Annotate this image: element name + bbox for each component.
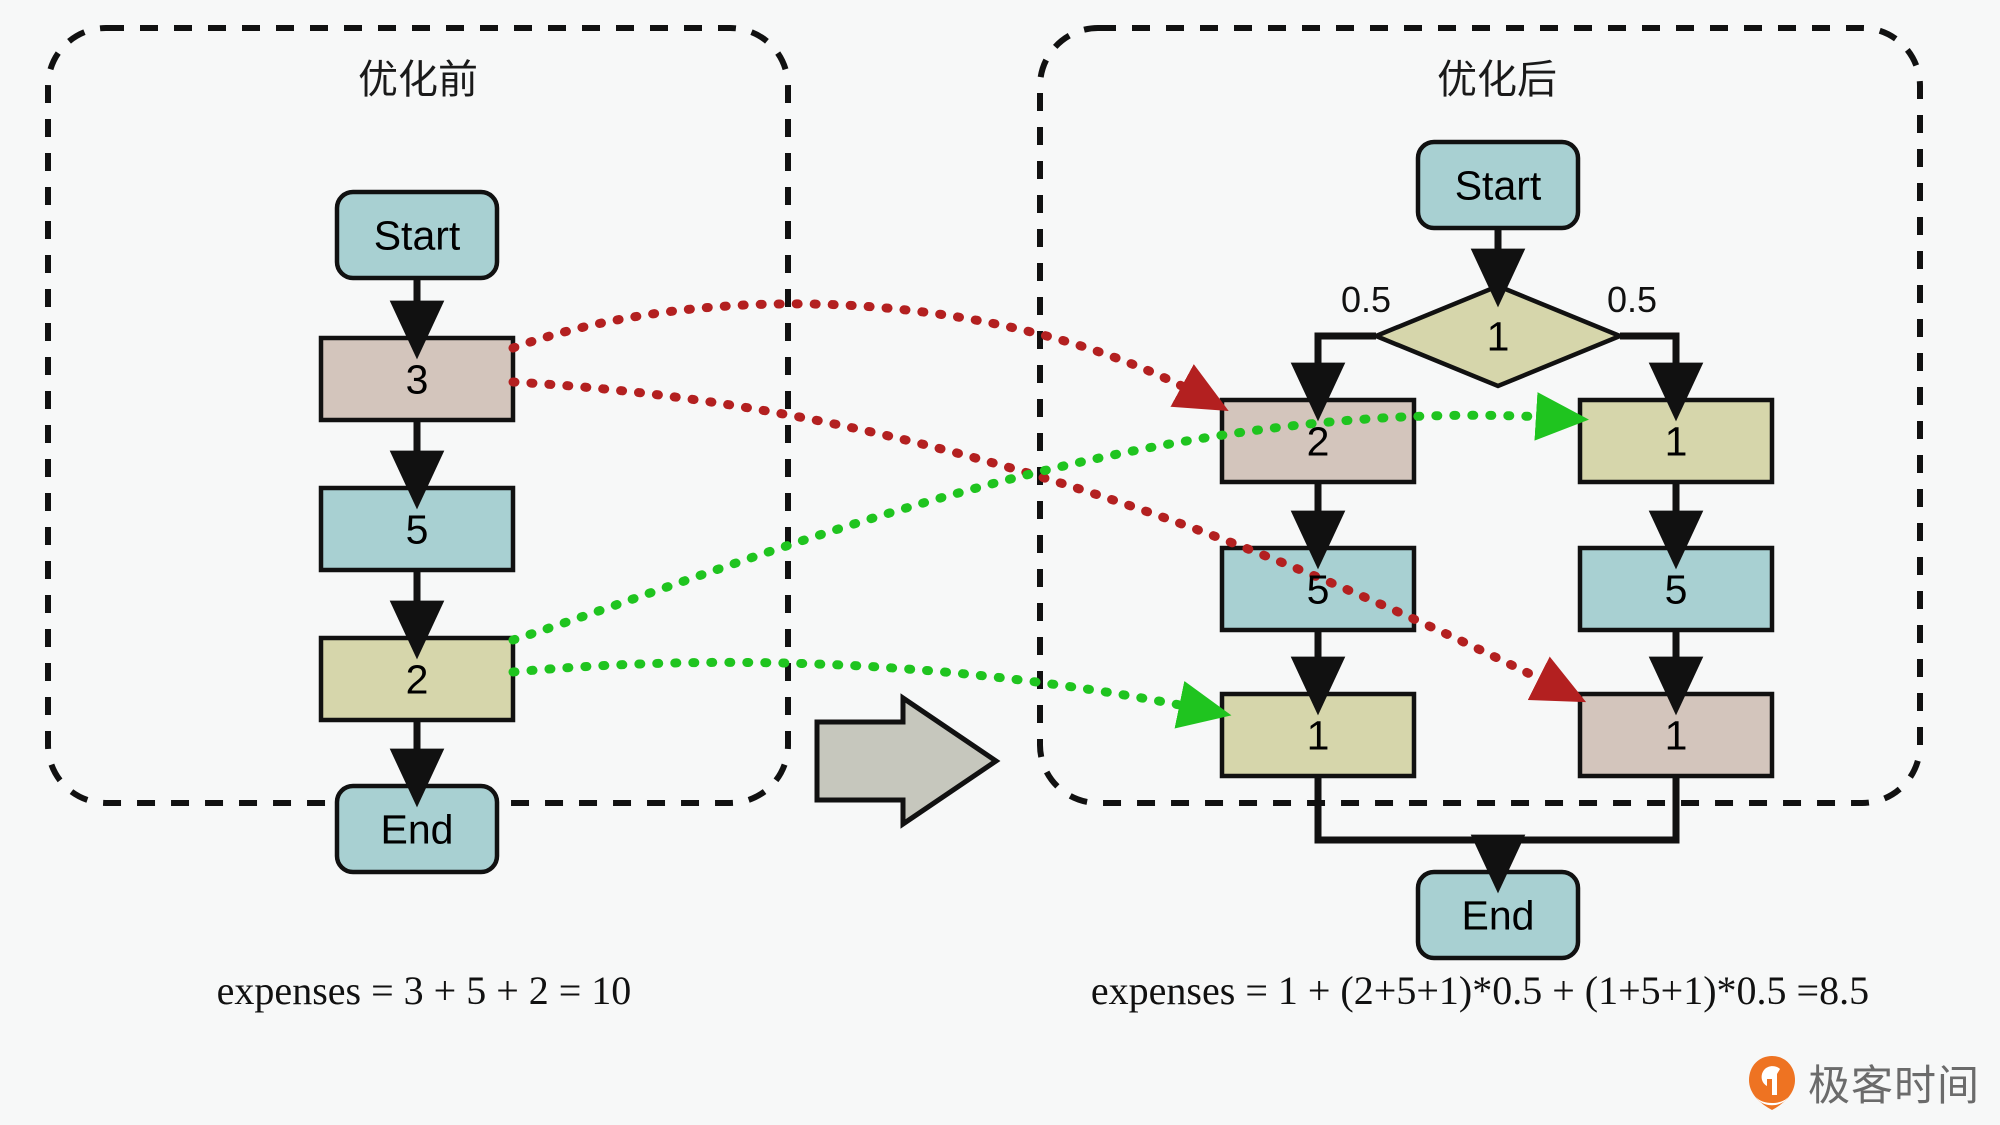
node-r-start[interactable] [1418,142,1578,228]
diagram-svg [0,0,2000,1125]
map-arrow-green-2-to-1b [513,662,1205,710]
node-r-5a[interactable] [1222,548,1414,630]
node-l-start[interactable] [337,192,497,278]
branch-label-left: 0.5 [1341,279,1391,321]
map-arrow-red-3-to-2 [513,304,1205,398]
node-l-2[interactable] [321,638,513,720]
node-l-5[interactable] [321,488,513,570]
branch-label-right: 0.5 [1607,279,1657,321]
node-l-3[interactable] [321,338,513,420]
node-r-1a[interactable] [1580,400,1772,482]
node-r-2[interactable] [1222,400,1414,482]
geektime-logo-icon [1746,1055,1798,1111]
node-r-end[interactable] [1418,872,1578,958]
edge-r-diamond-right [1620,336,1676,392]
transform-arrow-icon [817,698,996,824]
node-r-1c[interactable] [1580,694,1772,776]
watermark: 极客时间 [1746,1052,1980,1113]
diagram-canvas: 优化前 优化后 Start 3 5 2 End Start 1 2 1 5 5 … [0,0,2000,1125]
panel-title-left: 优化前 [358,47,478,105]
panel-title-right: 优化后 [1437,47,1557,105]
node-l-end[interactable] [337,786,497,872]
watermark-text: 极客时间 [1808,1052,1980,1113]
edge-r-merge-right [1498,776,1676,840]
edge-r-merge-left [1318,776,1498,840]
node-r-1b[interactable] [1222,694,1414,776]
formula-right: expenses = 1 + (2+5+1)*0.5 + (1+5+1)*0.5… [1091,967,1869,1014]
edge-r-diamond-left [1318,336,1376,392]
formula-left: expenses = 3 + 5 + 2 = 10 [217,967,632,1014]
node-r-diamond[interactable] [1376,286,1620,386]
node-r-5b[interactable] [1580,548,1772,630]
